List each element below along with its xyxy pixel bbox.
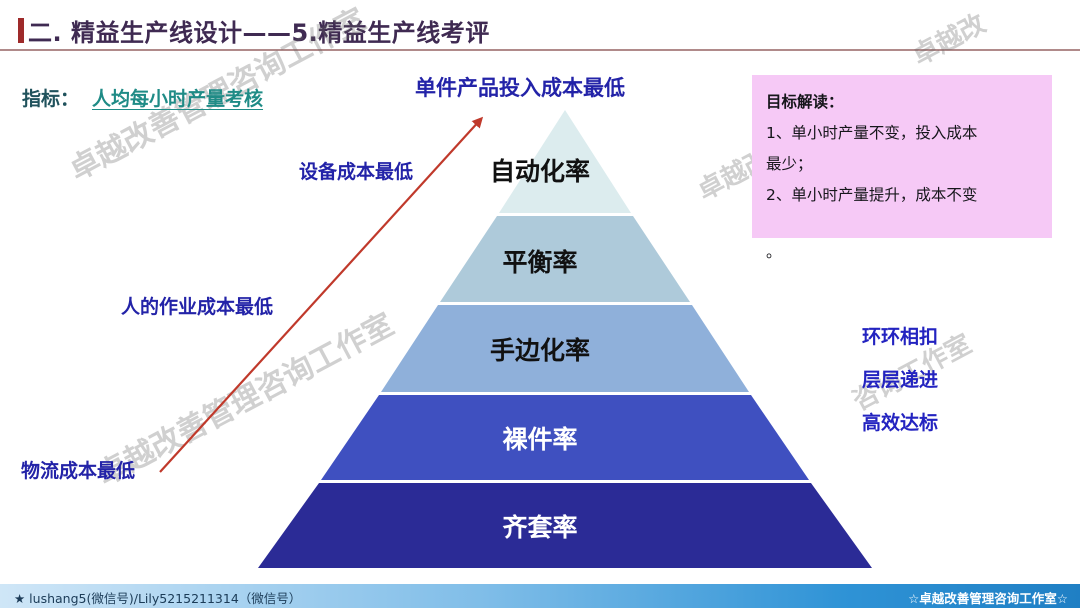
- annotation-labor-cost: 人的作业成本最低: [121, 292, 273, 319]
- slogan-efficient: 高效达标: [862, 408, 938, 435]
- note-line-2: 最少；: [766, 149, 1038, 180]
- note-trailing-period: 。: [766, 240, 782, 262]
- annotation-logistics-cost: 物流成本最低: [21, 456, 135, 483]
- annotation-equipment-cost: 设备成本最低: [299, 157, 413, 184]
- header-accent-bar: [18, 18, 24, 43]
- note-title: 目标解读：: [766, 87, 1038, 118]
- annotation-top-goal: 单件产品投入成本最低: [415, 72, 625, 102]
- note-line-1: 1、单小时产量不变，投入成本: [766, 118, 1038, 149]
- indicator-label: 指标：: [22, 84, 79, 111]
- goal-interpretation-note: 目标解读： 1、单小时产量不变，投入成本 最少； 2、单小时产量提升，成本不变: [752, 75, 1052, 238]
- tier-label-kitting: 齐套率: [0, 508, 1080, 544]
- tier-label-balance: 平衡率: [0, 243, 1080, 279]
- slogan-progressive: 层层递进: [862, 365, 938, 392]
- page-title: 二. 精益生产线设计——5.精益生产线考评: [28, 13, 490, 48]
- slide-header: 二. 精益生产线设计——5.精益生产线考评: [0, 0, 1080, 50]
- footer-contact: ★ lushang5(微信号)/Lily5215211314（微信号）: [14, 588, 301, 607]
- note-line-3: 2、单小时产量提升，成本不变: [766, 180, 1038, 211]
- slogan-interlinked: 环环相扣: [862, 322, 938, 349]
- footer-brand: ☆卓越改善管理咨询工作室☆: [908, 588, 1068, 607]
- indicator-value: 人均每小时产量考核: [92, 84, 263, 111]
- header-divider: [0, 49, 1080, 51]
- slide-canvas: 二. 精益生产线设计——5.精益生产线考评 卓越改善管理咨询工作室 卓越改善管理…: [0, 0, 1080, 608]
